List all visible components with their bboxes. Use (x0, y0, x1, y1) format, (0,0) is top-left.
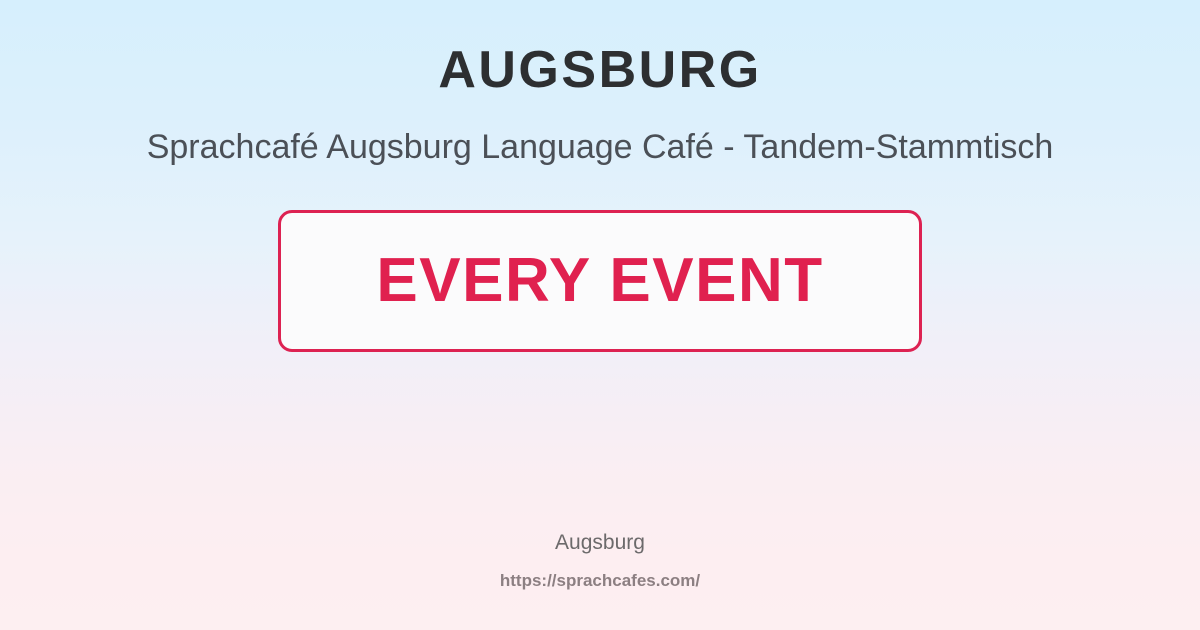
footer-location: Augsburg (555, 529, 645, 556)
event-subtitle: Sprachcafé Augsburg Language Café - Tand… (120, 99, 1080, 172)
page-title: AUGSBURG (438, 0, 761, 99)
badge-container: EVERY EVENT (0, 210, 1200, 352)
footer-url[interactable]: https://sprachcafes.com/ (500, 570, 700, 592)
every-event-badge-label: EVERY EVENT (376, 250, 823, 312)
event-promo-card: AUGSBURG Sprachcafé Augsburg Language Ca… (0, 0, 1200, 630)
footer: Augsburg https://sprachcafes.com/ (0, 529, 1200, 592)
every-event-badge[interactable]: EVERY EVENT (278, 210, 922, 352)
